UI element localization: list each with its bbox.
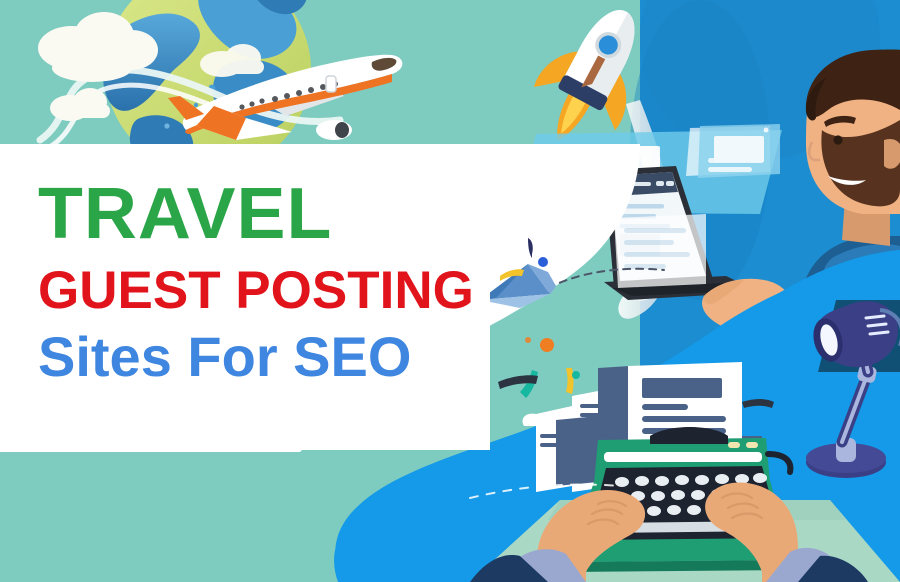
headline-line-guest-posting: GUEST POSTING (38, 264, 474, 317)
confetti-orange-dot (540, 338, 554, 352)
confetti-teal-stroke (520, 370, 538, 398)
dashed-flight-path (548, 269, 664, 288)
confetti-dark-dash-2 (742, 399, 774, 408)
headline-text-block: TRAVEL GUEST POSTING Sites For SEO (38, 156, 474, 385)
headline-line-sites-for-seo: Sites For SEO (38, 329, 474, 385)
travel-guest-posting-banner: TRAVEL GUEST POSTING Sites For SEO Flat … (0, 0, 900, 582)
headline-line-travel: TRAVEL (38, 178, 483, 250)
dashed-flight-path-lower (470, 485, 620, 499)
confetti-yellow-stroke (566, 368, 574, 394)
headline-card: TRAVEL GUEST POSTING Sites For SEO (14, 144, 490, 450)
